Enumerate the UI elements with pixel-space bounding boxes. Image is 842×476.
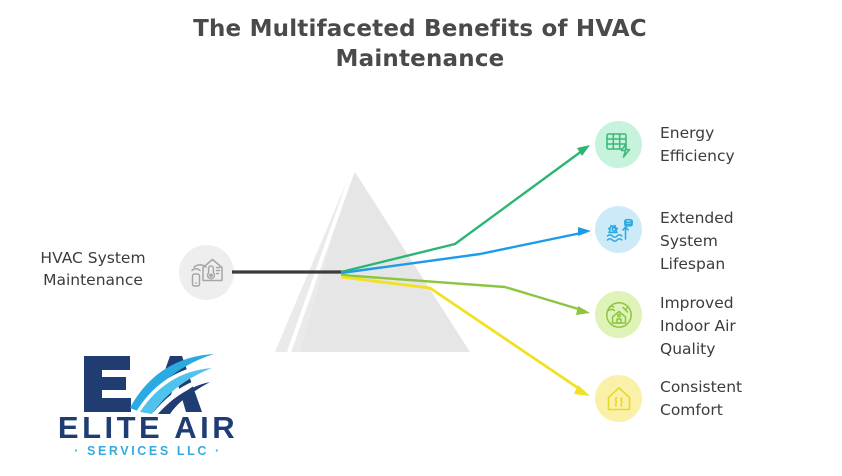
page-title: The Multifaceted Benefits of HVAC Mainte… (160, 14, 680, 75)
benefit-label-energy-efficiency: Energy Efficiency (660, 121, 735, 168)
house-airflow-circle-icon (604, 300, 634, 330)
prism-left-face (275, 174, 350, 352)
benefit-label-extended-system-lifespan: Extended System Lifespan (660, 206, 734, 275)
house-heat-waves-icon (604, 384, 634, 414)
logo-wordmark: ELITE AIR (28, 410, 268, 446)
ray-extended-system-lifespan (341, 232, 586, 273)
ray-improved-indoor-air-quality (341, 275, 585, 311)
ray-arrowhead-improved-indoor-air-quality (576, 306, 590, 315)
logo-tagline: · SERVICES LLC · (28, 444, 268, 458)
source-node-icon-circle (179, 245, 234, 300)
benefit-item-extended-system-lifespan[interactable]: Extended System Lifespan (595, 206, 734, 275)
wave-gear-arrow-database-icon (604, 215, 634, 245)
solar-panel-bolt-icon (604, 130, 634, 160)
brand-logo: ELITE AIR · SERVICES LLC · (28, 352, 268, 458)
ray-arrowhead-energy-efficiency (577, 145, 590, 156)
benefit-icon-circle-consistent-comfort (595, 375, 642, 422)
ray-arrowhead-extended-system-lifespan (578, 227, 591, 236)
benefit-label-consistent-comfort: Consistent Comfort (660, 375, 742, 422)
logo-monogram-ea-icon (78, 352, 218, 414)
ray-consistent-comfort (341, 277, 584, 392)
benefit-item-improved-indoor-air-quality[interactable]: Improved Indoor Air Quality (595, 291, 736, 360)
ray-energy-efficiency (341, 148, 586, 272)
benefit-item-energy-efficiency[interactable]: Energy Efficiency (595, 121, 735, 168)
benefit-item-consistent-comfort[interactable]: Consistent Comfort (595, 375, 742, 422)
prism-triangle (275, 172, 470, 352)
infographic-canvas: The Multifaceted Benefits of HVAC Mainte… (0, 0, 842, 476)
benefit-label-improved-indoor-air-quality: Improved Indoor Air Quality (660, 291, 736, 360)
smart-thermostat-house-icon (188, 254, 226, 292)
benefit-icon-circle-energy-efficiency (595, 121, 642, 168)
prism-highlight-edge (289, 173, 352, 352)
ray-arrowhead-consistent-comfort (574, 385, 590, 396)
benefit-icon-circle-extended-system-lifespan (595, 206, 642, 253)
benefit-icon-circle-improved-indoor-air-quality (595, 291, 642, 338)
source-node-label: HVAC System Maintenance (18, 247, 168, 292)
